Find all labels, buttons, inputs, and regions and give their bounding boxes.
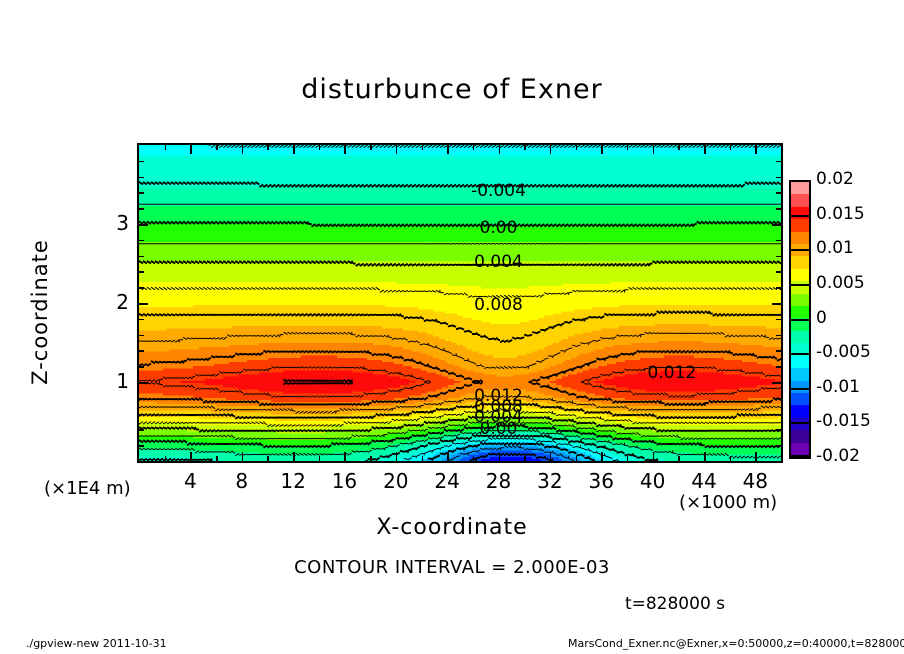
colorbar-swatch bbox=[791, 443, 809, 455]
y-tick-label: 3 bbox=[101, 211, 129, 235]
y-axis-label: Z-coordinate bbox=[28, 212, 52, 412]
x-tick-label: 12 bbox=[273, 469, 313, 493]
contour-label: 0.004 bbox=[474, 252, 523, 272]
colorbar-swatch bbox=[791, 194, 809, 206]
footer-command: ./gpview-new 2011-10-31 bbox=[26, 637, 167, 650]
x-tick-label: 20 bbox=[376, 469, 416, 493]
contour-label-layer: -0.0040.000.0040.0080.0120.0080.0040.000… bbox=[139, 145, 781, 461]
colorbar-divider bbox=[789, 353, 811, 355]
chart-title: disturbunce of Exner bbox=[0, 74, 904, 105]
colorbar-swatch bbox=[791, 219, 809, 231]
x-tick-label: 32 bbox=[530, 469, 570, 493]
colorbar-swatch bbox=[791, 356, 809, 368]
x-tick-label: 8 bbox=[222, 469, 262, 493]
colorbar-swatch bbox=[791, 405, 809, 417]
contour-label: 0.00 bbox=[480, 218, 518, 238]
x-tick-label: 28 bbox=[479, 469, 519, 493]
x-axis-label: X-coordinate bbox=[252, 515, 652, 540]
colorbar-swatch bbox=[791, 393, 809, 405]
colorbar-swatch bbox=[791, 256, 809, 268]
colorbar-swatch bbox=[791, 306, 809, 318]
colorbar-swatch bbox=[791, 294, 809, 306]
colorbar-divider bbox=[789, 457, 811, 459]
colorbar-divider bbox=[789, 319, 811, 321]
contour-label: 0.008 bbox=[474, 295, 523, 315]
x-axis-unit: (×1000 m) bbox=[679, 492, 777, 513]
colorbar-swatch bbox=[791, 381, 809, 393]
x-tick-label: 40 bbox=[633, 469, 673, 493]
colorbar-divider bbox=[789, 215, 811, 217]
x-tick-label: 4 bbox=[170, 469, 210, 493]
x-tick-label: 24 bbox=[427, 469, 467, 493]
colorbar-tick-label: -0.005 bbox=[816, 342, 871, 362]
colorbar-divider bbox=[789, 422, 811, 424]
x-tick-label: 44 bbox=[684, 469, 724, 493]
contour-label: -0.004 bbox=[471, 181, 526, 201]
colorbar-swatch bbox=[791, 368, 809, 380]
colorbar-tick-label: -0.015 bbox=[816, 411, 871, 431]
x-tick-label: 16 bbox=[324, 469, 364, 493]
colorbar-tick-label: 0.01 bbox=[816, 238, 854, 258]
plot-area[interactable]: -0.0040.000.0040.0080.0120.0080.0040.000… bbox=[137, 143, 783, 463]
contour-interval-note: CONTOUR INTERVAL = 2.000E-03 bbox=[152, 557, 752, 578]
x-tick-label: 48 bbox=[735, 469, 775, 493]
time-annotation: t=828000 s bbox=[555, 594, 795, 614]
contour-label: 0.00 bbox=[480, 419, 518, 439]
colorbar-tick-label: 0.015 bbox=[816, 204, 865, 224]
colorbar-tick-label: 0.02 bbox=[816, 169, 854, 189]
colorbar-tick-label: 0 bbox=[816, 308, 827, 328]
colorbar-divider bbox=[789, 284, 811, 286]
colorbar-divider bbox=[789, 388, 811, 390]
colorbar-divider bbox=[789, 249, 811, 251]
colorbar-swatch bbox=[791, 182, 809, 194]
contour-label: 0.012 bbox=[648, 363, 697, 383]
colorbar-swatch bbox=[791, 430, 809, 442]
y-tick-label: 1 bbox=[101, 369, 129, 393]
colorbar-tick-label: -0.02 bbox=[816, 446, 860, 466]
colorbar-tick-label: 0.005 bbox=[816, 273, 865, 293]
y-axis-unit: (×1E4 m) bbox=[44, 478, 131, 499]
colorbar-swatch bbox=[791, 331, 809, 343]
colorbar-swatch bbox=[791, 207, 809, 219]
colorbar-divider bbox=[789, 180, 811, 182]
colorbar-swatch bbox=[791, 269, 809, 281]
footer-source: MarsCond_Exner.nc@Exner,x=0:50000,z=0:40… bbox=[568, 637, 904, 650]
x-tick-label: 36 bbox=[581, 469, 621, 493]
y-tick-label: 2 bbox=[101, 290, 129, 314]
colorbar-swatch bbox=[791, 232, 809, 244]
colorbar-tick-label: -0.01 bbox=[816, 377, 860, 397]
